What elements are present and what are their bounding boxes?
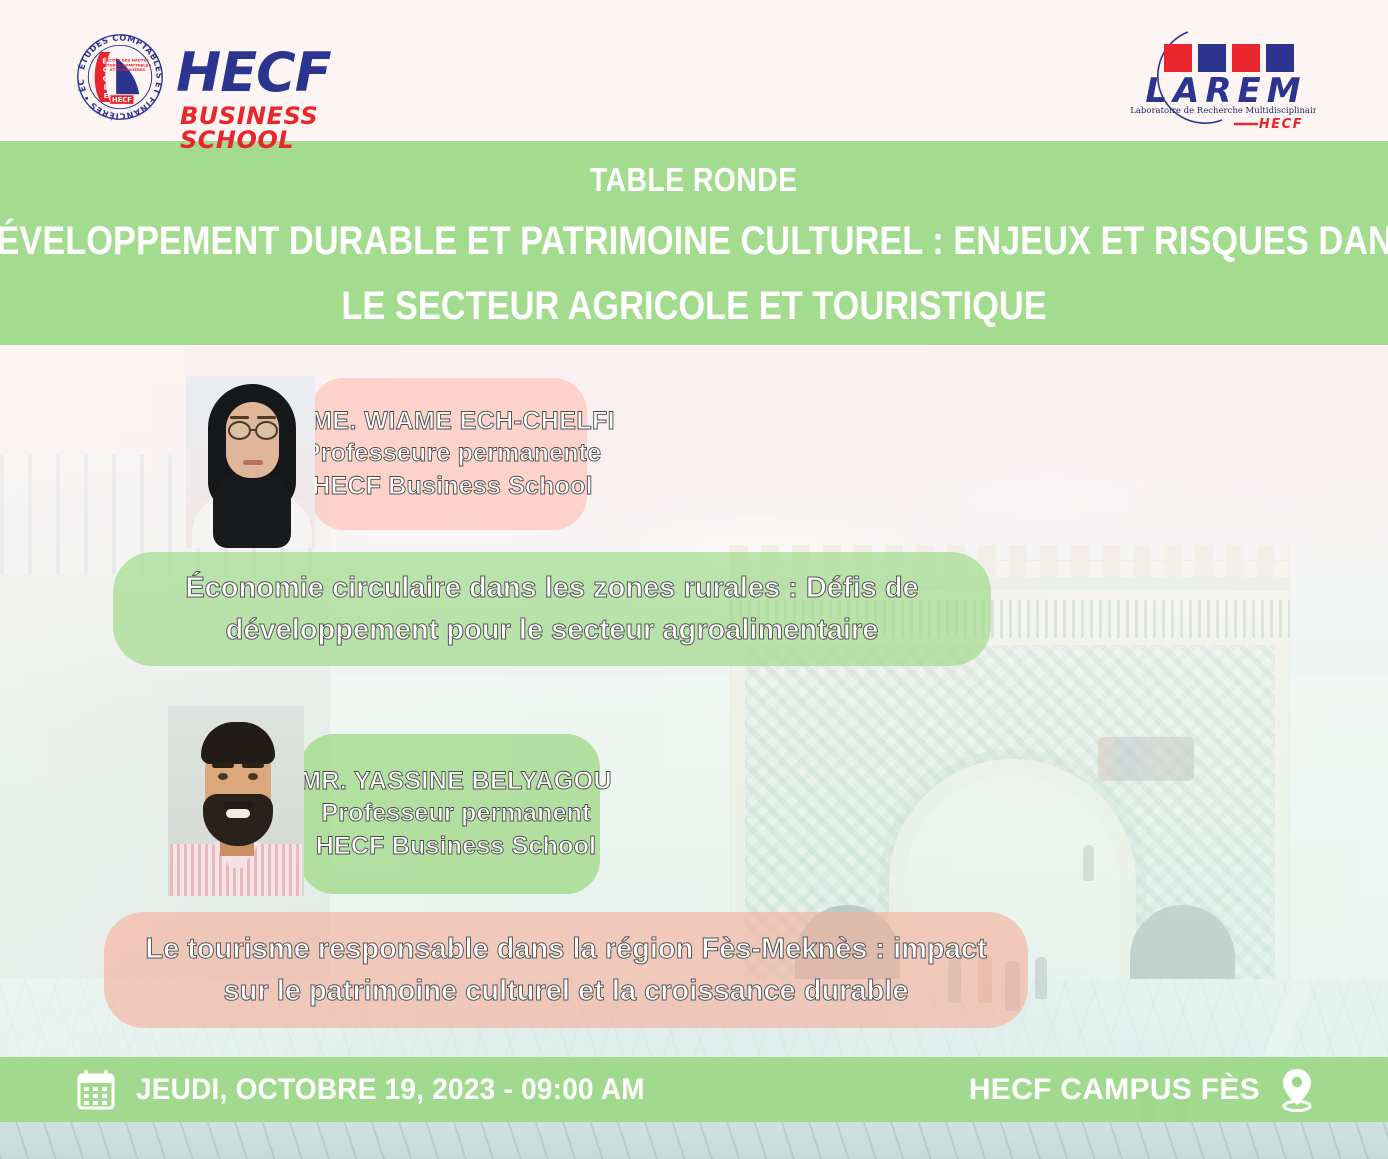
speaker-2-photo — [168, 706, 304, 896]
bottom-photo-strip — [0, 1122, 1388, 1159]
speaker-1-card: MME. WIAME ECH-CHELFI Professeure perman… — [310, 378, 587, 530]
larem-logo: LAREM Laboratoire de Recherche Multidisc… — [1126, 20, 1316, 130]
hecf-logo: ÉTUDES COMPTABLES ET FINANCIÈRES • ÉCOLE… — [72, 26, 342, 126]
larem-subtitle: Laboratoire de Recherche Multidisciplina… — [1130, 106, 1316, 116]
svg-text:O: O — [103, 75, 109, 83]
photo-mouth — [243, 460, 263, 465]
title-banner: TABLE RONDE DÉVELOPPEMENT DURABLE ET PAT… — [0, 141, 1388, 345]
event-poster: ÉTUDES COMPTABLES ET FINANCIÈRES • ÉCOLE… — [0, 0, 1388, 1159]
photo-eye-right — [248, 773, 258, 780]
photo-glasses-left — [228, 421, 251, 440]
photo-upper-lip — [223, 801, 253, 809]
poster-header: ÉTUDES COMPTABLES ET FINANCIÈRES • ÉCOLE… — [0, 0, 1388, 141]
larem-wordmark: LAREM — [1145, 71, 1306, 111]
poster-footer: JEUDI, OCTOBRE 19, 2023 - 09:00 AM HECF … — [0, 1057, 1388, 1122]
speaker-2-name: MR. YASSINE BELYAGOU — [300, 766, 612, 797]
banner-eyebrow: TABLE RONDE — [590, 161, 798, 199]
speaker-2-talk-line-1: Le tourisme responsable dans la région F… — [145, 928, 986, 970]
svg-text:HECF: HECF — [112, 96, 132, 104]
photo-hijab-drape — [213, 472, 291, 548]
banner-title-line-1: DÉVELOPPEMENT DURABLE ET PATRIMOINE CULT… — [0, 219, 1388, 264]
speaker-1-talk-title: Économie circulaire dans les zones rural… — [113, 552, 991, 666]
speaker-1-role: Professeure permanente — [304, 437, 602, 470]
speaker-2-talk-line-2: sur le patrimoine culturel et la croissa… — [224, 970, 909, 1012]
speaker-2-card: MR. YASSINE BELYAGOU Professeur permanen… — [300, 734, 600, 894]
svg-text:L: L — [104, 83, 109, 91]
hecf-seal-icon: ÉTUDES COMPTABLES ET FINANCIÈRES • ÉCOLE… — [72, 29, 168, 125]
banner-title-line-2: LE SECTEUR AGRICOLE ET TOURISTIQUE — [341, 284, 1046, 329]
footer-date-group: JEUDI, OCTOBRE 19, 2023 - 09:00 AM — [76, 1069, 683, 1111]
photo-face — [226, 402, 279, 478]
speaker-1-talk-line-2: développement pour le secteur agroalimen… — [226, 609, 879, 651]
speaker-1-affiliation: HECF Business School — [312, 470, 592, 503]
photo-eyebrow-right — [242, 763, 264, 768]
photo-glasses-right — [255, 421, 278, 440]
photo-eye-left — [218, 773, 228, 780]
footer-location: HECF CAMPUS FÈS — [969, 1073, 1260, 1107]
speaker-1-name: MME. WIAME ECH-CHELFI — [290, 406, 615, 437]
photo-mouth — [226, 809, 250, 818]
footer-location-group: HECF CAMPUS FÈS — [969, 1067, 1316, 1113]
svg-text:ET FINANCIÈRES: ET FINANCIÈRES — [110, 67, 145, 72]
svg-text:E: E — [104, 92, 109, 100]
speaker-1-photo — [186, 376, 315, 548]
speaker-2-talk-title: Le tourisme responsable dans la région F… — [104, 912, 1028, 1028]
speaker-2-role: Professeur permanent — [321, 797, 590, 830]
speaker-1-talk-line-1: Économie circulaire dans les zones rural… — [185, 567, 918, 609]
photo-glasses-bridge — [251, 429, 255, 431]
calendar-icon — [76, 1069, 116, 1111]
footer-date: JEUDI, OCTOBRE 19, 2023 - 09:00 AM — [136, 1073, 645, 1107]
photo-eyebrow-left — [230, 416, 249, 419]
larem-affiliation: HECF — [1259, 117, 1303, 130]
photo-eyebrow-left — [212, 763, 234, 768]
speaker-2-affiliation: HECF Business School — [316, 830, 596, 863]
hecf-tagline: BUSINESS SCHOOL — [180, 104, 342, 152]
map-pin-icon — [1278, 1067, 1316, 1113]
hecf-wordmark: HECF — [176, 46, 331, 100]
photo-eyebrow-right — [257, 416, 276, 419]
